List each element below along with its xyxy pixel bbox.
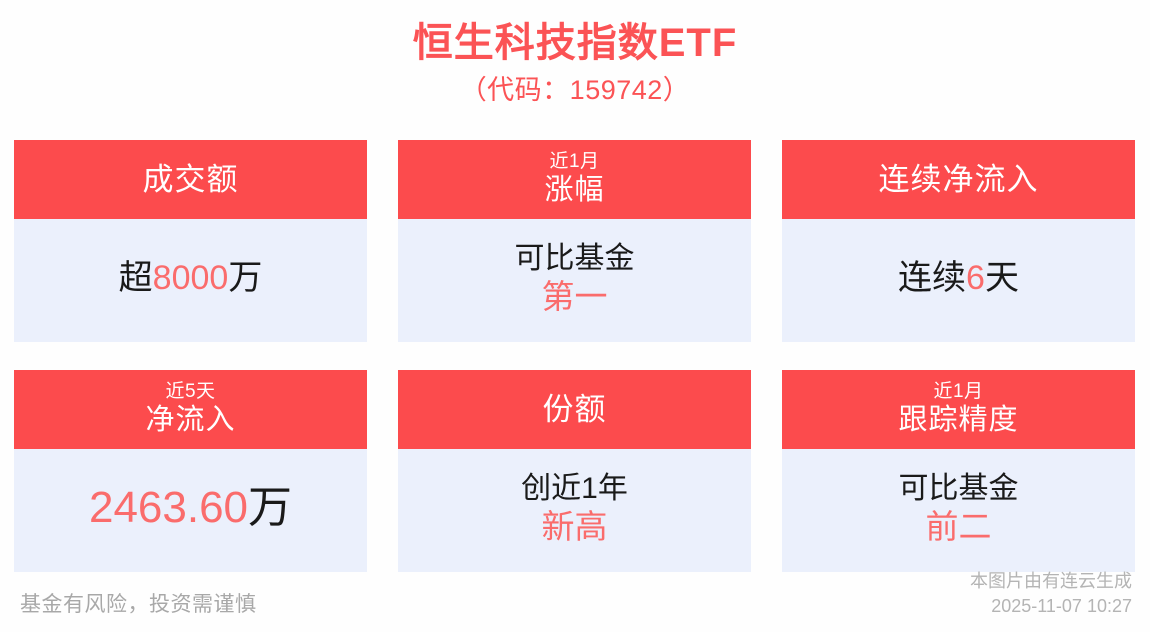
metric-card-grid: 成交额 超8000万 近1月 涨幅 可比基金 第一 连续净流入 连续6天 [14, 140, 1136, 572]
card-header-subtitle: 近5天 [165, 381, 215, 403]
card-header-subtitle: 近1月 [549, 151, 599, 173]
card-value: 2463.60万 [89, 482, 292, 535]
card-value-highlight: 新高 [542, 507, 608, 547]
metric-card-net-inflow-5d: 近5天 净流入 2463.60万 [14, 370, 367, 572]
card-value: 超8000万 [119, 258, 263, 299]
value-highlight: 6 [966, 259, 985, 297]
card-value-highlight: 前二 [926, 507, 992, 547]
value-highlight: 2463.60 [89, 483, 248, 532]
card-value-subtext: 创近1年 [521, 471, 628, 507]
card-value-inline: 超8000万 [119, 259, 263, 297]
metric-card-shares: 份额 创近1年 新高 [398, 370, 751, 572]
value-highlight: 8000 [153, 259, 229, 297]
generated-by-label: 本图片由有连云生成 [970, 569, 1132, 593]
card-body: 连续6天 [782, 219, 1135, 342]
generated-timestamp: 2025-11-07 10:27 [970, 594, 1132, 618]
risk-disclaimer: 基金有风险，投资需谨慎 [20, 588, 257, 618]
card-value-inline: 连续6天 [898, 259, 1019, 297]
metric-card-turnover: 成交额 超8000万 [14, 140, 367, 342]
card-header-title: 连续净流入 [879, 161, 1039, 198]
card-body: 可比基金 前二 [782, 449, 1135, 572]
card-header-title: 净流入 [145, 403, 235, 438]
card-header: 连续净流入 [782, 140, 1135, 219]
card-body: 2463.60万 [14, 449, 367, 572]
card-header: 近1月 涨幅 [398, 140, 751, 219]
value-suffix: 万 [228, 259, 262, 297]
card-body: 创近1年 新高 [398, 449, 751, 572]
title-block: 恒生科技指数ETF （代码：159742） [0, 0, 1150, 111]
card-header: 成交额 [14, 140, 367, 219]
card-header: 近1月 跟踪精度 [782, 370, 1135, 449]
card-value-inline: 2463.60万 [89, 483, 292, 532]
card-header: 份额 [398, 370, 751, 449]
card-header: 近5天 净流入 [14, 370, 367, 449]
value-prefix: 超 [119, 259, 153, 297]
card-header-title: 涨幅 [544, 173, 604, 208]
card-body: 可比基金 第一 [398, 219, 751, 342]
card-header-subtitle: 近1月 [933, 381, 983, 403]
value-suffix: 万 [248, 483, 292, 532]
card-header-title: 跟踪精度 [898, 403, 1018, 438]
fund-code: （代码：159742） [0, 70, 1150, 111]
card-value-subtext: 可比基金 [899, 471, 1019, 507]
card-header-title: 成交额 [143, 161, 239, 198]
value-suffix: 天 [985, 259, 1019, 297]
card-body: 超8000万 [14, 219, 367, 342]
card-header-title: 份额 [543, 391, 607, 428]
card-value: 连续6天 [898, 258, 1019, 299]
metric-card-tracking-accuracy: 近1月 跟踪精度 可比基金 前二 [782, 370, 1135, 572]
value-prefix: 连续 [898, 259, 966, 297]
generation-info: 本图片由有连云生成 2025-11-07 10:27 [970, 569, 1132, 618]
fund-name: 恒生科技指数ETF [0, 18, 1150, 68]
card-value-subtext: 可比基金 [515, 241, 635, 277]
metric-card-monthly-gain: 近1月 涨幅 可比基金 第一 [398, 140, 751, 342]
metric-card-consecutive-inflow: 连续净流入 连续6天 [782, 140, 1135, 342]
footer: 基金有风险，投资需谨慎 本图片由有连云生成 2025-11-07 10:27 [0, 570, 1150, 632]
card-value-highlight: 第一 [542, 277, 608, 317]
